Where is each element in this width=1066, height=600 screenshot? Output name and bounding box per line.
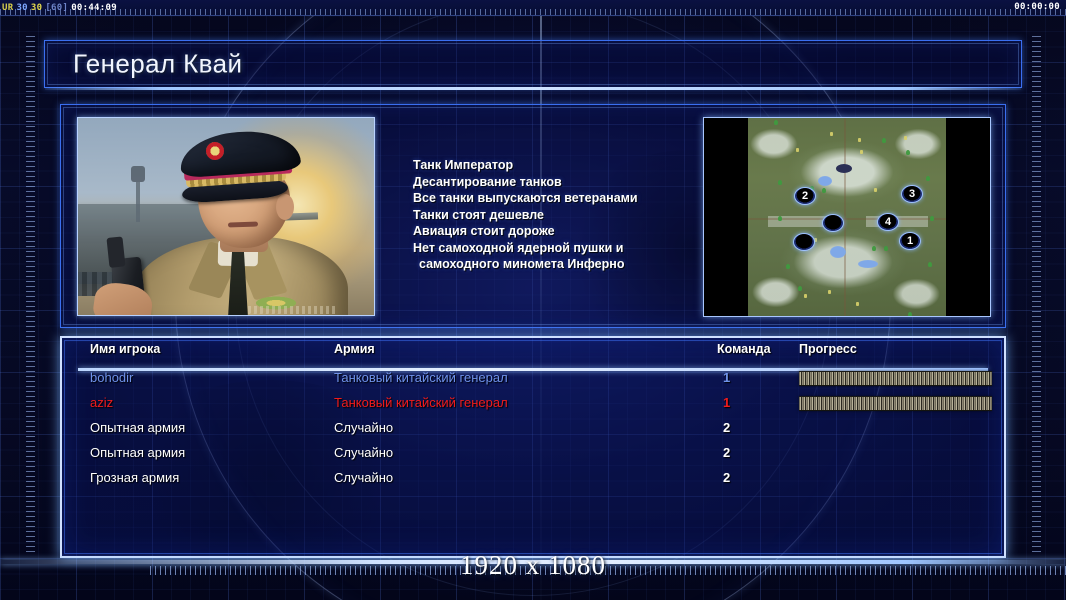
ability-line: Танк Император [413, 157, 743, 174]
progress-bar [799, 371, 992, 386]
roster-rows: bohodir Танковый китайский генерал 1 azi… [78, 368, 988, 493]
map-prop [860, 150, 863, 154]
table-row[interactable]: Опытная армия Случайно 2 [78, 443, 988, 468]
column-header-player-name: Имя игрока [90, 342, 160, 356]
map-tree [908, 312, 912, 317]
cell-army[interactable]: Танковый китайский генерал [334, 395, 508, 410]
start-position-label: 3 [909, 188, 915, 200]
map-start-position-4[interactable]: 4 [877, 213, 899, 231]
start-position-label: 1 [907, 235, 913, 247]
stat-prefix: UR [2, 3, 13, 13]
map-prop [874, 188, 877, 192]
roster-header-row: Имя игрока Армия Команда Прогресс [78, 342, 988, 364]
map-prop [796, 148, 799, 152]
map-tree [786, 264, 790, 269]
table-row[interactable]: aziz Танковый китайский генерал 1 [78, 393, 988, 418]
map-start-position-2[interactable]: 2 [794, 187, 816, 205]
map-water [836, 164, 852, 173]
network-stats: UR 30 30 [60] 00:44:09 [0, 3, 117, 13]
map-prop [804, 294, 807, 298]
cell-army[interactable]: Случайно [334, 470, 393, 485]
general-ability-list: Танк Император Десантирование танков Все… [413, 157, 743, 273]
map-tree [872, 246, 876, 251]
portrait-pole [136, 174, 140, 222]
map-prop [858, 138, 861, 142]
map-tree [882, 138, 886, 143]
map-tree [928, 262, 932, 267]
map-tree [822, 188, 826, 193]
map-tree [798, 286, 802, 291]
cell-player-name: Опытная армия [90, 445, 185, 460]
map-tree [930, 216, 934, 221]
table-row[interactable]: Опытная армия Случайно 2 [78, 418, 988, 443]
cell-player-name: aziz [90, 395, 113, 410]
map-tree [774, 120, 778, 125]
game-lobby-screen: UR 30 30 [60] 00:44:09 00:00:00 Генерал … [0, 0, 1066, 600]
map-tree [884, 246, 888, 251]
stat-value-2: 30 [31, 3, 42, 13]
table-row[interactable]: bohodir Танковый китайский генерал 1 [78, 368, 988, 393]
hud-clock: 00:00:00 [1014, 2, 1060, 12]
column-header-team: Команда [717, 342, 771, 356]
start-position-label: 2 [802, 190, 808, 202]
page-title: Генерал Квай [73, 49, 242, 80]
general-portrait [77, 117, 375, 316]
map-tree [778, 180, 782, 185]
map-start-position-3[interactable]: 3 [901, 185, 923, 203]
map-start-position-empty[interactable] [793, 233, 815, 251]
map-prop [904, 136, 907, 140]
column-header-army: Армия [334, 342, 375, 356]
cell-team[interactable]: 1 [723, 395, 730, 410]
cell-army[interactable]: Танковый китайский генерал [334, 370, 508, 385]
start-position-label: 4 [885, 216, 891, 228]
left-ruler [26, 36, 35, 556]
map-tree [906, 150, 910, 155]
map-preview[interactable]: 2 4 3 1 [703, 117, 991, 317]
ability-line: Нет самоходной ядерной пушки и [413, 240, 743, 257]
cell-army[interactable]: Случайно [334, 420, 393, 435]
map-water [858, 260, 878, 268]
map-water [818, 176, 832, 186]
map-prop [856, 302, 859, 306]
general-info-panel: Танк Император Десантирование танков Все… [60, 104, 1006, 328]
portrait-mouth [228, 221, 258, 227]
map-start-position-empty[interactable] [822, 214, 844, 232]
stat-bracket: [60] [45, 3, 68, 13]
progress-bar [799, 396, 992, 411]
map-water [830, 246, 846, 258]
cell-player-name: Грозная армия [90, 470, 179, 485]
stat-value-1: 30 [16, 3, 27, 13]
map-prop [828, 290, 831, 294]
ability-line: Танки стоят дешевле [413, 207, 743, 224]
portrait-signature [248, 306, 338, 314]
cell-team[interactable]: 1 [723, 370, 730, 385]
cell-team[interactable]: 2 [723, 420, 730, 435]
table-row[interactable]: Грозная армия Случайно 2 [78, 468, 988, 493]
ability-line: Все танки выпускаются ветеранами [413, 190, 743, 207]
stat-elapsed: 00:44:09 [71, 3, 117, 13]
map-start-position-1[interactable]: 1 [899, 232, 921, 250]
map-tree [926, 176, 930, 181]
player-roster-panel: Имя игрока Армия Команда Прогресс bohodi… [60, 336, 1006, 558]
ability-line: самоходного миномета Инферно [413, 256, 743, 273]
title-panel: Генерал Квай [44, 40, 1022, 88]
cell-player-name: Опытная армия [90, 420, 185, 435]
portrait-ear [276, 194, 294, 220]
cell-team[interactable]: 2 [723, 470, 730, 485]
ability-line: Десантирование танков [413, 174, 743, 191]
portrait-artwork [78, 118, 374, 315]
map-tree [778, 216, 782, 221]
title-panel-underline [45, 87, 1021, 90]
top-ruler [0, 9, 1066, 15]
map-preview-image: 2 4 3 1 [748, 118, 946, 317]
resolution-label: 1920 x 1080 [0, 550, 1066, 581]
cell-team[interactable]: 2 [723, 445, 730, 460]
right-ruler [1032, 36, 1041, 556]
map-prop [830, 132, 833, 136]
ability-line: Авиация стоит дороже [413, 223, 743, 240]
cell-army[interactable]: Случайно [334, 445, 393, 460]
column-header-progress: Прогресс [799, 342, 857, 356]
cell-player-name: bohodir [90, 370, 133, 385]
